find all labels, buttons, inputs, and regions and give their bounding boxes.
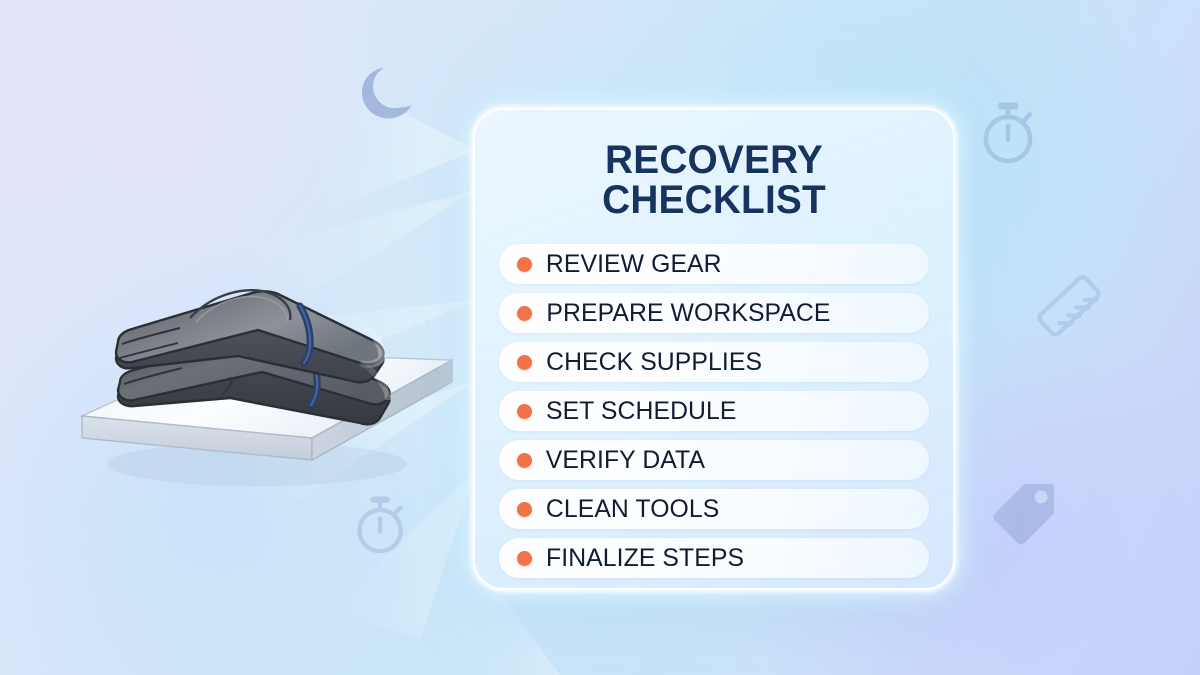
list-item[interactable]: SET SCHEDULE <box>499 391 929 431</box>
list-item-label: CHECK SUPPLIES <box>546 350 762 375</box>
bullet-icon <box>517 355 532 370</box>
list-item-label: SET SCHEDULE <box>546 399 737 424</box>
list-item[interactable]: FINALIZE STEPS <box>499 538 929 578</box>
bullet-icon <box>517 453 532 468</box>
ruler-icon <box>1030 274 1102 346</box>
bullet-icon <box>517 404 532 419</box>
list-item[interactable]: REVIEW GEAR <box>499 244 929 284</box>
stopwatch-icon <box>353 492 411 556</box>
list-item-label: VERIFY DATA <box>546 448 705 473</box>
list-item-label: FINALIZE STEPS <box>546 546 744 571</box>
page-title: RECOVERY CHECKLIST <box>505 140 922 220</box>
checklist: REVIEW GEAR PREPARE WORKSPACE CHECK SUPP… <box>499 244 929 578</box>
list-item[interactable]: CLEAN TOOLS <box>499 489 929 529</box>
screenshot-canvas: RECOVERY CHECKLIST REVIEW GEAR PREPARE W… <box>0 0 1200 675</box>
list-item[interactable]: VERIFY DATA <box>499 440 929 480</box>
bullet-icon <box>517 306 532 321</box>
recovery-checklist-card: RECOVERY CHECKLIST REVIEW GEAR PREPARE W… <box>473 108 955 590</box>
bullet-icon <box>517 551 532 566</box>
folded-towels-on-shelf-illustration <box>62 248 472 498</box>
bullet-icon <box>517 502 532 517</box>
list-item[interactable]: CHECK SUPPLIES <box>499 342 929 382</box>
crescent-moon-icon <box>360 62 416 122</box>
tag-icon <box>991 481 1057 547</box>
bullet-icon <box>517 257 532 272</box>
list-item-label: CLEAN TOOLS <box>546 497 719 522</box>
list-item-label: PREPARE WORKSPACE <box>546 301 830 326</box>
list-item[interactable]: PREPARE WORKSPACE <box>499 293 929 333</box>
stopwatch-icon <box>979 98 1041 166</box>
list-item-label: REVIEW GEAR <box>546 252 722 277</box>
